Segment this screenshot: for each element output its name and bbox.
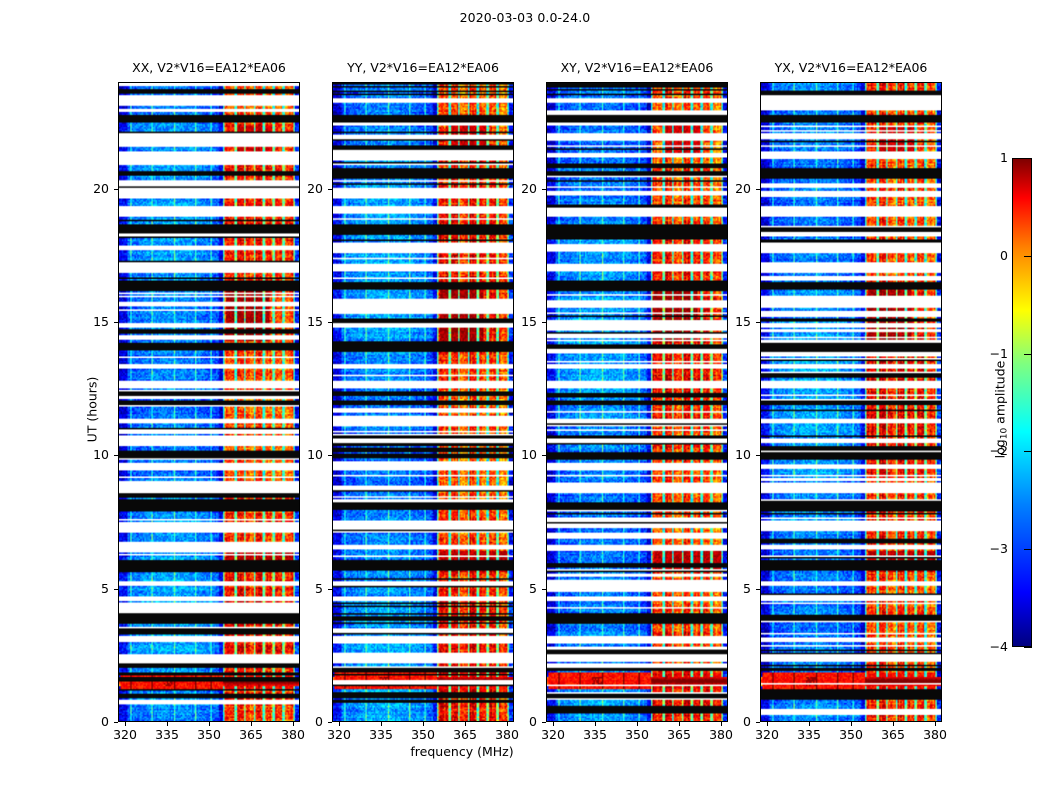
y-tick-label: 5 (79, 582, 109, 596)
colorbar-tick-mark (1024, 354, 1032, 355)
y-tick-label: 0 (293, 715, 323, 729)
x-tick-mark (809, 722, 810, 726)
x-tick-mark (637, 722, 638, 726)
colorbar-tick-label: −3 (974, 542, 1008, 556)
y-tick-label: 20 (507, 182, 537, 196)
figure-suptitle: 2020-03-03 0.0-24.0 (0, 10, 1050, 25)
panel-title-yx: YX, V2*V16=EA12*EA06 (760, 60, 942, 78)
y-tick-label: 5 (721, 582, 751, 596)
spectrogram-image-xy (547, 83, 727, 721)
x-axis-label: frequency (MHz) (0, 744, 1050, 759)
spectrogram-canvas (119, 83, 299, 721)
y-tick-mark (542, 322, 546, 323)
spectrogram-image-yx (761, 83, 941, 721)
x-tick-mark (679, 722, 680, 726)
y-tick-mark (542, 455, 546, 456)
y-tick-mark (328, 455, 332, 456)
x-tick-mark (209, 722, 210, 726)
spectrogram-image-yy (333, 83, 513, 721)
y-tick-mark (114, 722, 118, 723)
x-tick-label: 350 (831, 727, 871, 742)
colorbar-label-subscript: 10 (1000, 428, 1010, 439)
x-tick-label: 365 (873, 727, 913, 742)
x-tick-mark (167, 722, 168, 726)
y-tick-label: 20 (79, 182, 109, 196)
y-tick-label: 10 (507, 448, 537, 462)
y-tick-mark (114, 322, 118, 323)
x-tick-mark (767, 722, 768, 726)
x-tick-mark (553, 722, 554, 726)
x-tick-label: 335 (575, 727, 615, 742)
x-tick-mark (339, 722, 340, 726)
x-tick-label: 380 (273, 727, 313, 742)
x-tick-mark (465, 722, 466, 726)
y-tick-label: 20 (293, 182, 323, 196)
x-tick-label: 350 (403, 727, 443, 742)
x-tick-mark (851, 722, 852, 726)
y-tick-mark (114, 589, 118, 590)
y-tick-mark (756, 589, 760, 590)
spectrogram-canvas (333, 83, 513, 721)
x-tick-label: 365 (231, 727, 271, 742)
y-tick-label: 10 (293, 448, 323, 462)
x-tick-mark (251, 722, 252, 726)
y-tick-mark (756, 189, 760, 190)
colorbar-tick-mark (1024, 549, 1032, 550)
y-tick-label: 20 (721, 182, 751, 196)
x-tick-label: 380 (915, 727, 955, 742)
colorbar-tick-label: 1 (974, 151, 1008, 165)
colorbar-tick-label: −4 (974, 640, 1008, 654)
colorbar-label-tail: amplitude (993, 361, 1008, 428)
y-tick-label: 0 (79, 715, 109, 729)
x-tick-mark (595, 722, 596, 726)
y-tick-label: 10 (721, 448, 751, 462)
y-tick-mark (328, 189, 332, 190)
y-tick-mark (756, 722, 760, 723)
x-tick-label: 365 (445, 727, 485, 742)
y-tick-label: 5 (507, 582, 537, 596)
x-tick-mark (893, 722, 894, 726)
y-tick-mark (542, 589, 546, 590)
colorbar-tick-mark (1024, 158, 1032, 159)
x-tick-label: 320 (747, 727, 787, 742)
panel-title-yy: YY, V2*V16=EA12*EA06 (332, 60, 514, 78)
y-tick-label: 5 (293, 582, 323, 596)
y-tick-mark (114, 455, 118, 456)
figure-canvas: 2020-03-03 0.0-24.0 XX, V2*V16=EA12*EA06… (0, 0, 1050, 800)
x-tick-label: 380 (487, 727, 527, 742)
y-tick-label: 10 (79, 448, 109, 462)
x-tick-label: 365 (659, 727, 699, 742)
y-tick-mark (328, 722, 332, 723)
y-tick-label: 0 (721, 715, 751, 729)
y-tick-mark (114, 189, 118, 190)
x-tick-label: 350 (189, 727, 229, 742)
y-tick-mark (542, 722, 546, 723)
colorbar-tick-mark (1024, 647, 1032, 648)
colorbar[interactable] (1012, 158, 1032, 647)
y-tick-label: 15 (293, 315, 323, 329)
x-tick-label: 335 (789, 727, 829, 742)
x-tick-mark (125, 722, 126, 726)
y-tick-mark (756, 322, 760, 323)
spectrogram-canvas (761, 83, 941, 721)
x-tick-mark (381, 722, 382, 726)
x-tick-label: 350 (617, 727, 657, 742)
y-tick-label: 15 (507, 315, 537, 329)
y-axis-label: UT (hours) (85, 310, 100, 510)
colorbar-tick-mark (1024, 256, 1032, 257)
spectrogram-image-xx (119, 83, 299, 721)
y-tick-mark (328, 589, 332, 590)
spectrogram-panel-xy[interactable] (546, 82, 728, 722)
spectrogram-panel-yx[interactable] (760, 82, 942, 722)
x-tick-label: 320 (105, 727, 145, 742)
x-axis-label-text: frequency (MHz) (410, 744, 513, 759)
x-tick-label: 320 (319, 727, 359, 742)
x-tick-mark (935, 722, 936, 726)
x-tick-label: 380 (701, 727, 741, 742)
y-tick-mark (328, 322, 332, 323)
x-tick-label: 335 (147, 727, 187, 742)
y-tick-mark (756, 455, 760, 456)
y-tick-mark (542, 189, 546, 190)
colorbar-label: log10 amplitude (993, 310, 1008, 510)
colorbar-tick-label: 0 (974, 249, 1008, 263)
y-tick-label: 15 (79, 315, 109, 329)
spectrogram-panel-xx[interactable] (118, 82, 300, 722)
y-tick-label: 0 (507, 715, 537, 729)
spectrogram-canvas (547, 83, 727, 721)
spectrogram-panel-yy[interactable] (332, 82, 514, 722)
x-tick-label: 320 (533, 727, 573, 742)
y-tick-label: 15 (721, 315, 751, 329)
x-tick-label: 335 (361, 727, 401, 742)
colorbar-label-main: log (993, 439, 1008, 458)
x-tick-mark (423, 722, 424, 726)
panel-title-xx: XX, V2*V16=EA12*EA06 (118, 60, 300, 78)
panel-title-xy: XY, V2*V16=EA12*EA06 (546, 60, 728, 78)
colorbar-tick-mark (1024, 451, 1032, 452)
